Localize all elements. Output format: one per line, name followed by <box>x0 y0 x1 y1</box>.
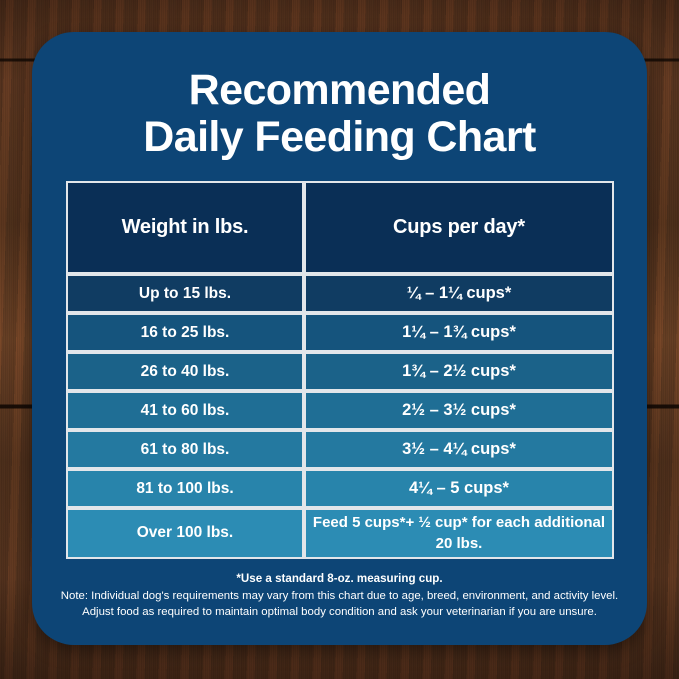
table-body: Up to 15 lbs.¼ – 1¼ cups*16 to 25 lbs.1¼… <box>66 274 614 559</box>
table-row: Up to 15 lbs.¼ – 1¼ cups* <box>66 274 614 313</box>
cell-cups: ¼ – 1¼ cups* <box>304 274 614 313</box>
footnote-measuring-cup: *Use a standard 8-oz. measuring cup. <box>52 571 627 588</box>
cell-weight: 41 to 60 lbs. <box>66 391 304 430</box>
footnotes: *Use a standard 8-oz. measuring cup. Not… <box>52 571 627 621</box>
table-row: 61 to 80 lbs.3½ – 4¼ cups* <box>66 430 614 469</box>
table-row: 41 to 60 lbs.2½ – 3½ cups* <box>66 391 614 430</box>
page-title: Recommended Daily Feeding Chart <box>32 32 647 162</box>
table-row: 16 to 25 lbs.1¼ – 1¾ cups* <box>66 313 614 352</box>
cell-cups: 3½ – 4¼ cups* <box>304 430 614 469</box>
table-row: 26 to 40 lbs.1¾ – 2½ cups* <box>66 352 614 391</box>
cell-weight: 26 to 40 lbs. <box>66 352 304 391</box>
footnote-adjust: Adjust food as required to maintain opti… <box>52 604 627 621</box>
cell-weight: 61 to 80 lbs. <box>66 430 304 469</box>
page-title-line-1: Recommended <box>72 67 607 114</box>
cell-cups: 1¾ – 2½ cups* <box>304 352 614 391</box>
cell-cups: 2½ – 3½ cups* <box>304 391 614 430</box>
column-header-weight: Weight in lbs. <box>66 181 304 274</box>
cell-weight: 16 to 25 lbs. <box>66 313 304 352</box>
page-title-line-2: Daily Feeding Chart <box>72 114 607 161</box>
table-row: Over 100 lbs.Feed 5 cups*+ ½ cup* for ea… <box>66 508 614 559</box>
table-header: Weight in lbs. Cups per day* <box>66 181 614 274</box>
cell-cups: 4¼ – 5 cups* <box>304 469 614 508</box>
cell-weight: Up to 15 lbs. <box>66 274 304 313</box>
table-header-row: Weight in lbs. Cups per day* <box>66 181 614 274</box>
table-row: 81 to 100 lbs.4¼ – 5 cups* <box>66 469 614 508</box>
column-header-cups: Cups per day* <box>304 181 614 274</box>
cell-cups: 1¼ – 1¾ cups* <box>304 313 614 352</box>
cell-weight: Over 100 lbs. <box>66 508 304 559</box>
cell-cups: Feed 5 cups*+ ½ cup* for each additional… <box>304 508 614 559</box>
footnote-note: Note: Individual dog's requirements may … <box>52 588 627 605</box>
feeding-chart-table: Weight in lbs. Cups per day* Up to 15 lb… <box>66 181 614 559</box>
cell-weight: 81 to 100 lbs. <box>66 469 304 508</box>
feeding-chart-card: Recommended Daily Feeding Chart Weight i… <box>32 32 647 645</box>
